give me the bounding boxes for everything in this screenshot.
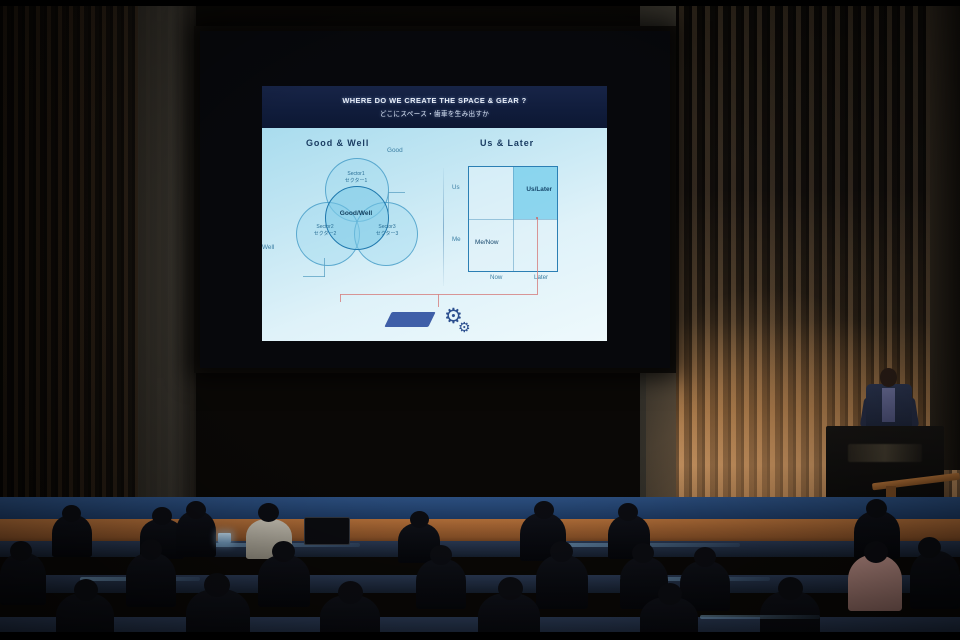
- audience-head: [618, 503, 638, 521]
- audience-head: [410, 511, 429, 528]
- audience-head: [498, 577, 523, 600]
- audience-head: [10, 541, 32, 561]
- venn-label-sector1-en: Sector1: [347, 171, 364, 177]
- audience-head: [186, 501, 206, 519]
- venn-label-sector3-en: Sector3: [378, 224, 395, 230]
- annotation-good: Good: [387, 147, 403, 154]
- audience-head: [62, 505, 81, 522]
- audience-head: [778, 577, 803, 600]
- audience-head: [632, 543, 654, 563]
- auditorium-scene: WHERE DO WE CREATE THE SPACE & GEAR ? どこ…: [0, 0, 960, 640]
- venn-label-sector3-jp: セクター3: [376, 231, 399, 237]
- matrix-highlight-quadrant: [513, 167, 557, 219]
- well-leader-line-h: [303, 276, 325, 277]
- good-leader-line-h: [388, 192, 405, 193]
- well-leader-line-v: [324, 258, 325, 277]
- audience-head: [204, 573, 230, 597]
- matrix-cell-me-now: Me/Now: [475, 239, 498, 246]
- slide-body: Good & Well Us & Later Sector1 セクター1 Sec…: [262, 128, 607, 341]
- presenter-shirt: [882, 388, 895, 422]
- audience-head: [74, 579, 98, 601]
- space-parallelogram-icon: [384, 312, 435, 327]
- left-side-wall-panel: [138, 0, 196, 500]
- connector-matrix-down: [537, 218, 538, 294]
- audience-head: [694, 547, 716, 567]
- connector-to-gear: [438, 294, 439, 307]
- connector-horizontal: [340, 294, 438, 295]
- av-equipment: [304, 517, 350, 545]
- matrix-axis-label-now: Now: [490, 274, 502, 281]
- venn-label-sector2: Sector2 セクター2: [294, 224, 356, 238]
- audience-head: [864, 541, 888, 563]
- audience-head: [338, 581, 363, 604]
- slide-title: WHERE DO WE CREATE THE SPACE & GEAR ?: [342, 96, 526, 105]
- frame-bottom-letterbox: [0, 632, 960, 640]
- connector-venn-down: [340, 294, 341, 302]
- audience-head: [866, 499, 887, 518]
- audience-member: [536, 555, 588, 609]
- presenter: [866, 368, 912, 430]
- audience-member: [848, 555, 902, 611]
- audience-head: [258, 503, 279, 522]
- matrix-axis-label-us: Us: [452, 184, 460, 191]
- venn-label-sector2-jp: セクター2: [314, 231, 337, 237]
- presenter-head: [880, 368, 897, 387]
- frame-top-letterbox: [0, 0, 960, 6]
- annotation-well: Well: [262, 244, 274, 251]
- good-leader-line-v: [388, 192, 389, 214]
- seat-row-highlight: [700, 615, 820, 619]
- audience-head: [272, 541, 295, 562]
- audience-head: [534, 501, 554, 519]
- venn-circle-intersection: [325, 186, 389, 250]
- audience-head: [152, 507, 172, 525]
- gear-small-icon: ⚙: [458, 320, 471, 334]
- right-panel-heading: Us & Later: [480, 138, 534, 148]
- us-later-matrix: Us/Later Me/Now: [468, 166, 558, 272]
- left-panel-heading: Good & Well: [306, 138, 369, 148]
- slide-header: WHERE DO WE CREATE THE SPACE & GEAR ? どこ…: [262, 86, 607, 128]
- left-curtain: [0, 0, 196, 500]
- matrix-axis-label-me: Me: [452, 236, 461, 243]
- audience-head: [658, 583, 682, 605]
- venn-label-sector1: Sector1 セクター1: [325, 171, 387, 185]
- matrix-horizontal-gridline: [469, 219, 557, 220]
- panel-divider: [443, 168, 444, 286]
- venn-label-sector1-jp: セクター1: [345, 178, 368, 184]
- slide-subtitle: どこにスペース・歯車を生み出すか: [380, 108, 489, 118]
- audience-head: [430, 545, 452, 565]
- connector-horizontal-right: [438, 294, 538, 295]
- venn-label-sector3: Sector3 セクター3: [356, 224, 418, 238]
- matrix-cell-us-later: Us/Later: [526, 186, 552, 193]
- audience-member: [126, 553, 176, 607]
- audience-member: [910, 551, 960, 609]
- laptop-screen: [218, 533, 231, 543]
- venn-diagram: Sector1 セクター1 Sector2 セクター2 Sector3 セクター…: [278, 158, 443, 288]
- podium: [826, 426, 944, 504]
- far-right-wall: [930, 0, 960, 470]
- audience-head: [140, 539, 162, 560]
- audience-area: [0, 497, 960, 640]
- podium-logo: [848, 444, 922, 462]
- presentation-slide: WHERE DO WE CREATE THE SPACE & GEAR ? どこ…: [262, 86, 607, 341]
- audience-member: [258, 555, 310, 607]
- audience-head: [918, 537, 941, 558]
- connector-origin-dot: [536, 217, 538, 219]
- venn-center-label: Good/Well: [325, 210, 387, 217]
- audience-member: [416, 559, 466, 609]
- audience-head: [550, 541, 573, 562]
- venn-label-sector2-en: Sector2: [316, 224, 333, 230]
